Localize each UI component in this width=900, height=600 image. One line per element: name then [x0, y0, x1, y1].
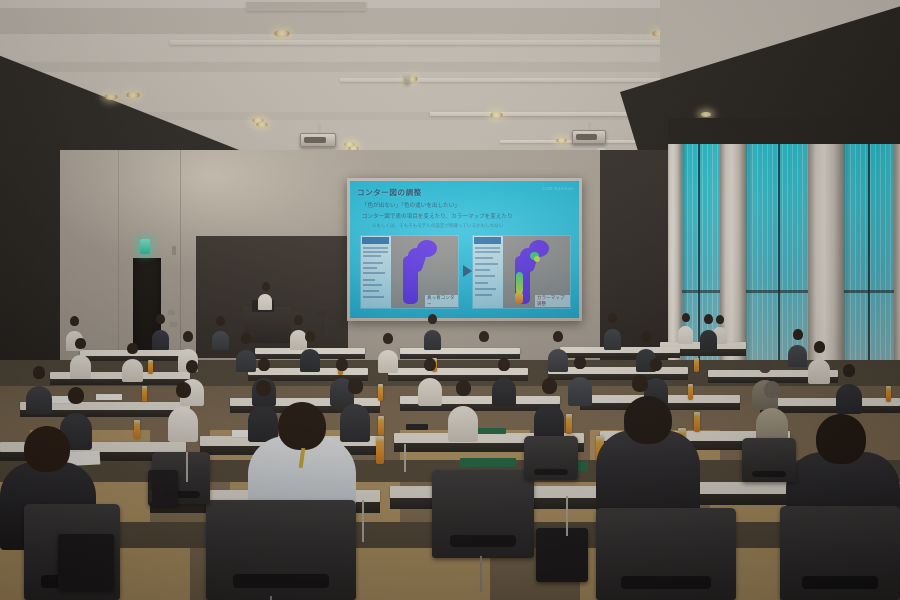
wall-outlet — [170, 322, 177, 327]
tea-bottle — [566, 414, 572, 434]
slide-title: コンター図の調整 — [357, 187, 422, 198]
attendee — [424, 320, 441, 350]
slide-image-right: カラーマップ調整 — [472, 235, 571, 309]
tea-bottle — [378, 416, 384, 436]
tea-bottle — [142, 386, 147, 402]
attendee — [534, 388, 564, 442]
green-folder — [460, 458, 516, 467]
tea-bottle — [148, 360, 153, 374]
attendee — [26, 374, 52, 414]
slide-bullet-2: コンター図で表の項目を変えたり、カラーマップを変えたり — [362, 212, 513, 220]
slide-image-left: 真っ青コンター — [360, 235, 459, 309]
ceiling-projector-front — [300, 133, 336, 147]
ceiling-sprinkler — [404, 72, 410, 84]
slide-logo: CAE Seminar — [542, 186, 574, 191]
tea-bottle — [378, 384, 383, 401]
window-header-beam — [668, 118, 900, 144]
slide-arrow-icon — [463, 265, 472, 277]
attendee — [548, 338, 568, 372]
tea-bottle — [376, 436, 384, 464]
attendee — [448, 390, 478, 442]
attendee — [604, 319, 621, 350]
slide-surface: コンター図の調整 CAE Seminar 「色が出ない」「色の違いを出したい」 … — [350, 181, 579, 318]
attendee — [492, 366, 516, 406]
attendee — [378, 340, 398, 373]
presenter — [258, 288, 272, 310]
projection-screen: コンター図の調整 CAE Seminar 「色が出ない」「色の違いを出したい」 … — [347, 178, 582, 321]
downlight — [556, 138, 567, 143]
emergency-exit-sign-icon — [140, 239, 150, 254]
tea-bottle — [886, 386, 891, 402]
slide-right-caption: カラーマップ調整 — [535, 295, 570, 307]
device-on-table — [406, 424, 428, 430]
wall-panel-seam — [118, 150, 119, 380]
slide-bullet-1: 「色が出ない」「色の違いを出したい」 — [362, 201, 460, 209]
mesh-back-chair[interactable] — [432, 470, 534, 558]
attendee — [474, 338, 494, 372]
mesh-back-chair[interactable] — [206, 500, 356, 600]
attendee — [300, 338, 320, 372]
attendee — [836, 372, 862, 414]
tea-bottle — [134, 420, 140, 439]
attendee — [788, 335, 807, 367]
downlight — [104, 94, 118, 100]
mesh-back-chair[interactable] — [524, 436, 578, 480]
downlight — [700, 112, 712, 117]
ceiling-projector-rear — [572, 130, 606, 144]
seminar-room-photo: コンター図の調整 CAE Seminar 「色が出ない」「色の違いを出したい」 … — [0, 0, 900, 600]
attendee — [122, 350, 143, 382]
bag — [536, 528, 588, 582]
attendee-foreground-right — [596, 398, 700, 514]
downlight — [126, 92, 140, 98]
mesh-back-chair[interactable] — [742, 438, 796, 482]
attendee — [168, 392, 198, 442]
attendee — [152, 320, 169, 350]
downlight — [256, 122, 268, 127]
attendee — [568, 364, 592, 406]
wall-outlet — [168, 310, 175, 315]
attendee — [700, 320, 717, 350]
tea-bottle — [694, 358, 699, 372]
downlight — [274, 30, 290, 37]
attendee — [212, 322, 229, 350]
attendee — [70, 345, 91, 379]
attendee — [678, 318, 693, 344]
slide-subnote: ※もしくは、そもそもモデルの設定が間違っているかもしれない — [372, 223, 503, 229]
bag — [58, 534, 114, 590]
attendee — [808, 348, 830, 384]
mesh-back-chair[interactable] — [780, 506, 900, 600]
table-row — [400, 348, 520, 354]
handout — [96, 394, 122, 400]
downlight — [490, 112, 503, 118]
bag — [148, 470, 178, 506]
attendee — [418, 366, 442, 406]
mesh-back-chair[interactable] — [596, 508, 736, 600]
microphone-icon — [318, 311, 327, 315]
slide-left-caption: 真っ青コンター — [425, 295, 458, 307]
wall-fixture — [172, 246, 176, 255]
